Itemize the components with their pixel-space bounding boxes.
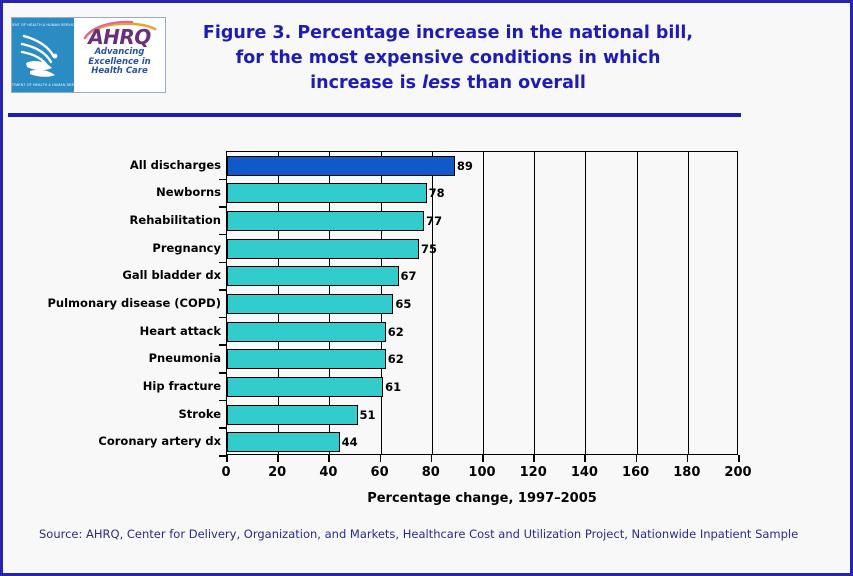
hhs-seal-ring-bottom: DEPARTMENT OF HEALTH & HUMAN SERVICES bbox=[12, 83, 74, 87]
bar[interactable] bbox=[227, 156, 455, 176]
bar-row: 89 bbox=[227, 156, 739, 176]
x-axis-tick-label: 140 bbox=[571, 465, 598, 480]
x-axis-tick bbox=[277, 455, 279, 462]
bar-row: 62 bbox=[227, 349, 739, 369]
bar-value-label: 51 bbox=[358, 408, 376, 422]
x-axis-tick bbox=[380, 455, 382, 462]
bar-row: 65 bbox=[227, 294, 739, 314]
bar-row: 61 bbox=[227, 377, 739, 397]
plot-area: 8978777567656262615144 bbox=[226, 151, 738, 455]
y-axis-tick bbox=[219, 317, 226, 319]
bar[interactable] bbox=[227, 405, 358, 425]
bar-row: 51 bbox=[227, 405, 739, 425]
bar[interactable] bbox=[227, 239, 419, 259]
x-axis-tick-label: 80 bbox=[422, 465, 440, 480]
category-label: All discharges bbox=[6, 158, 221, 172]
hhs-seal-icon: DEPARTMENT OF HEALTH & HUMAN SERVICES • … bbox=[12, 18, 74, 92]
bar-value-label: 77 bbox=[424, 214, 442, 228]
y-axis-tick bbox=[219, 234, 226, 236]
figure-title: Figure 3. Percentage increase in the nat… bbox=[178, 21, 718, 96]
figure-title-emphasis: less bbox=[422, 73, 461, 93]
y-axis-tick bbox=[219, 206, 226, 208]
y-axis-tick bbox=[219, 179, 226, 181]
x-axis-tick bbox=[431, 455, 433, 462]
ahrq-tagline: Advancing Excellence in Health Care bbox=[88, 48, 150, 77]
x-axis-tick-label: 0 bbox=[221, 465, 230, 480]
category-axis-labels: All dischargesNewbornsRehabilitationPreg… bbox=[3, 151, 221, 455]
figure-container: DEPARTMENT OF HEALTH & HUMAN SERVICES • … bbox=[0, 0, 853, 576]
x-axis-tick bbox=[738, 455, 740, 462]
bar-value-label: 78 bbox=[427, 186, 445, 200]
x-axis-tick-label: 200 bbox=[724, 465, 751, 480]
ahrq-tagline-line3: Health Care bbox=[88, 67, 150, 77]
bar[interactable] bbox=[227, 377, 383, 397]
category-label: Coronary artery dx bbox=[6, 434, 221, 448]
x-axis-tick-label: 20 bbox=[268, 465, 286, 480]
bar[interactable] bbox=[227, 322, 386, 342]
category-label: Gall bladder dx bbox=[6, 268, 221, 282]
y-axis-tick bbox=[219, 289, 226, 291]
bar[interactable] bbox=[227, 211, 424, 231]
bar-row: 44 bbox=[227, 432, 739, 452]
x-axis-tick-label: 60 bbox=[371, 465, 389, 480]
y-axis-tick bbox=[219, 427, 226, 429]
bar-row: 77 bbox=[227, 211, 739, 231]
x-axis-tick bbox=[482, 455, 484, 462]
bar-value-label: 44 bbox=[340, 435, 358, 449]
bar-chart: All dischargesNewbornsRehabilitationPreg… bbox=[3, 123, 850, 513]
y-axis-tick bbox=[219, 400, 226, 402]
x-axis-tick-label: 40 bbox=[319, 465, 337, 480]
x-axis-tick bbox=[687, 455, 689, 462]
bar-value-label: 75 bbox=[419, 242, 437, 256]
figure-title-line-3-pre: increase is bbox=[310, 73, 422, 93]
x-axis-tick bbox=[584, 455, 586, 462]
x-axis-tick bbox=[226, 455, 228, 462]
bar[interactable] bbox=[227, 294, 393, 314]
y-axis-tick bbox=[219, 344, 226, 346]
bar-value-label: 67 bbox=[399, 269, 417, 283]
y-axis-tick bbox=[219, 455, 226, 457]
bar[interactable] bbox=[227, 183, 427, 203]
figure-title-line-1: Figure 3. Percentage increase in the nat… bbox=[178, 21, 718, 46]
x-axis-tick-label: 120 bbox=[520, 465, 547, 480]
category-label: Pulmonary disease (COPD) bbox=[6, 296, 221, 310]
y-axis-tick bbox=[219, 372, 226, 374]
bar-value-label: 62 bbox=[386, 352, 404, 366]
x-axis-tick-label: 160 bbox=[622, 465, 649, 480]
category-label: Stroke bbox=[6, 407, 221, 421]
category-label: Newborns bbox=[6, 185, 221, 199]
bar-row: 75 bbox=[227, 239, 739, 259]
bar[interactable] bbox=[227, 349, 386, 369]
bar-row: 78 bbox=[227, 183, 739, 203]
figure-title-line-3-post: than overall bbox=[461, 73, 586, 93]
bar-value-label: 89 bbox=[455, 159, 473, 173]
ahrq-wordmark-block: AHRQ Advancing Excellence in Health Care bbox=[74, 18, 165, 92]
ahrq-logo: DEPARTMENT OF HEALTH & HUMAN SERVICES • … bbox=[11, 17, 166, 93]
hhs-seal-ring-top: DEPARTMENT OF HEALTH & HUMAN SERVICES • … bbox=[12, 23, 74, 27]
x-axis-tick bbox=[328, 455, 330, 462]
x-axis-tick bbox=[533, 455, 535, 462]
bar[interactable] bbox=[227, 432, 340, 452]
category-label: Heart attack bbox=[6, 324, 221, 338]
bar-value-label: 62 bbox=[386, 325, 404, 339]
bar-value-label: 65 bbox=[393, 297, 411, 311]
ahrq-acronym: AHRQ bbox=[88, 27, 151, 47]
x-axis-tick-label: 180 bbox=[673, 465, 700, 480]
bar[interactable] bbox=[227, 266, 399, 286]
bar-row: 67 bbox=[227, 266, 739, 286]
x-axis-tick bbox=[636, 455, 638, 462]
category-label: Pregnancy bbox=[6, 241, 221, 255]
figure-title-line-2: for the most expensive conditions in whi… bbox=[178, 46, 718, 71]
category-label: Pneumonia bbox=[6, 351, 221, 365]
y-axis-tick bbox=[219, 262, 226, 264]
bar-row: 62 bbox=[227, 322, 739, 342]
figure-title-line-3: increase is less than overall bbox=[178, 71, 718, 96]
bar-value-label: 61 bbox=[383, 380, 401, 394]
category-label: Rehabilitation bbox=[6, 213, 221, 227]
figure-header: DEPARTMENT OF HEALTH & HUMAN SERVICES • … bbox=[3, 3, 850, 108]
category-label: Hip fracture bbox=[6, 379, 221, 393]
header-divider bbox=[8, 113, 741, 117]
x-axis-tick-label: 100 bbox=[468, 465, 495, 480]
hhs-eagle-icon bbox=[18, 30, 68, 82]
source-note: Source: AHRQ, Center for Delivery, Organ… bbox=[39, 527, 798, 541]
x-axis-title: Percentage change, 1997–2005 bbox=[226, 491, 738, 506]
